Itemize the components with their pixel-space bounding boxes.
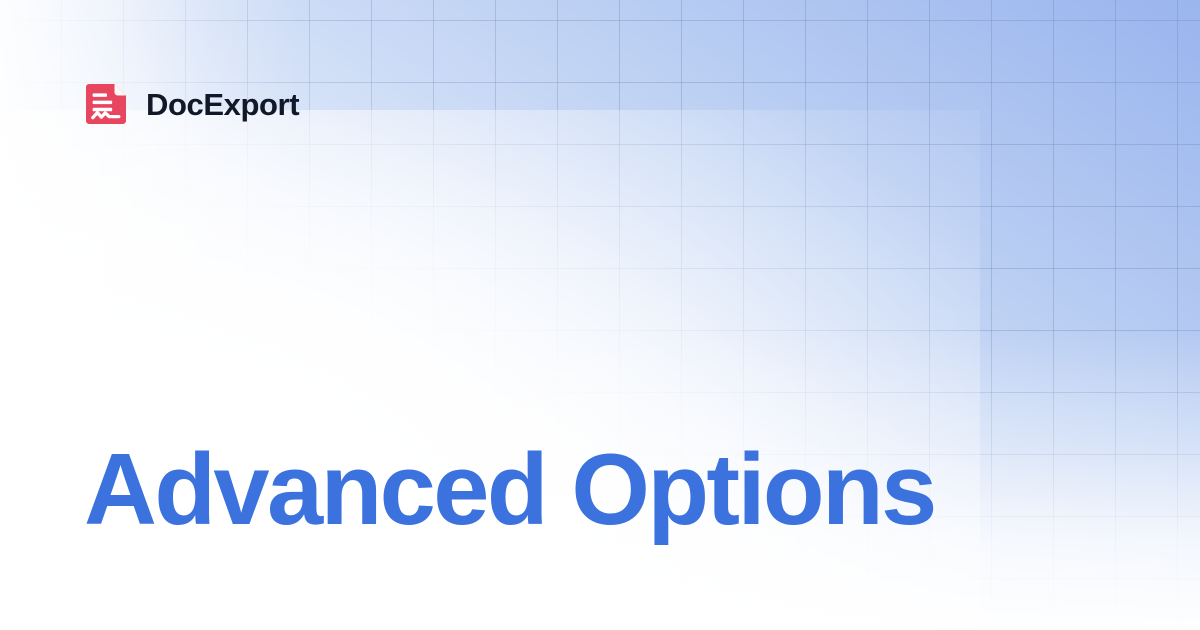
banner-content: DocExport Advanced Options xyxy=(0,0,1200,630)
page-title: Advanced Options xyxy=(84,440,935,541)
brand-lockup: DocExport xyxy=(84,82,299,126)
document-chart-icon xyxy=(84,82,128,126)
brand-name: DocExport xyxy=(146,89,299,120)
og-banner: DocExport Advanced Options xyxy=(0,0,1200,630)
